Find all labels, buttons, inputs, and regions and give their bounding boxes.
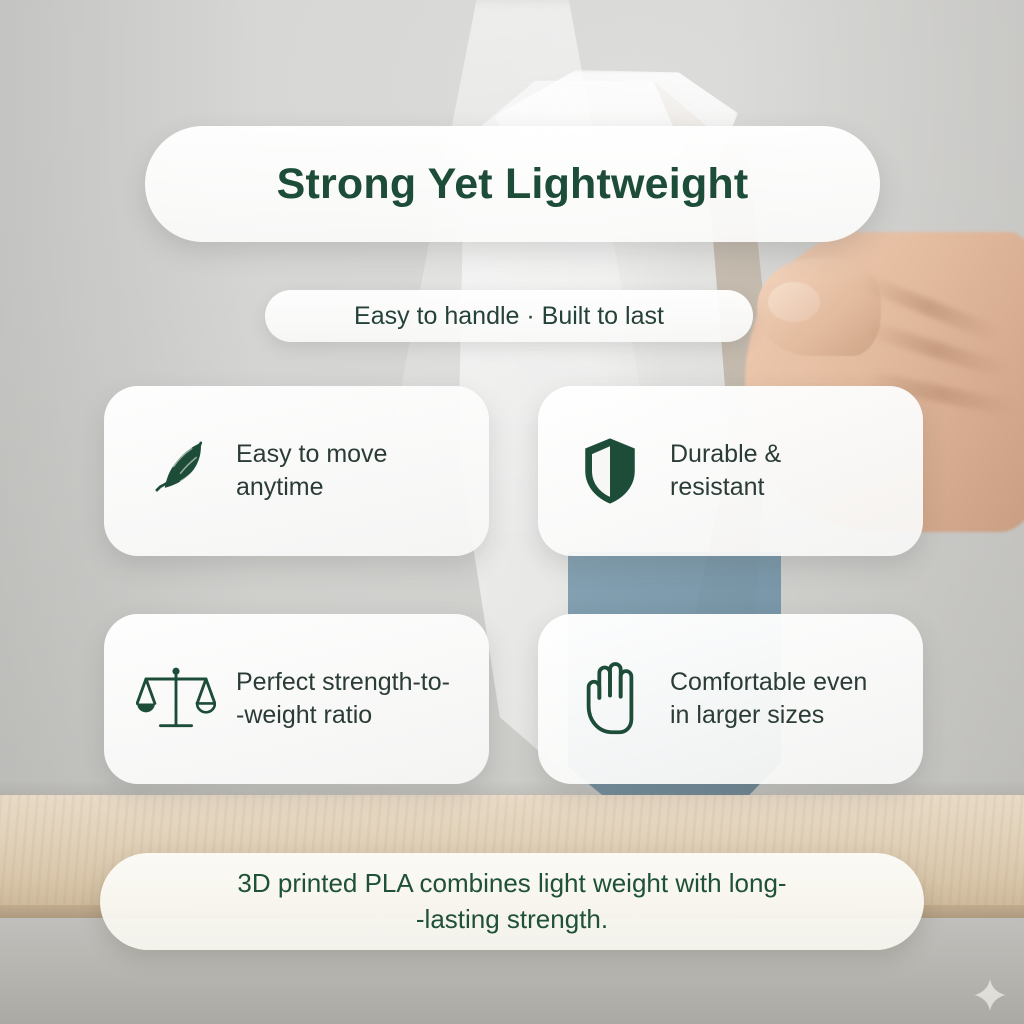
feature-card-label: Durable & resistant xyxy=(670,438,781,504)
footer-caption-line-1: 3D printed PLA combines light weight wit… xyxy=(237,866,786,901)
shield-icon xyxy=(570,431,650,511)
subtitle-pill: Easy to handle · Built to last xyxy=(265,290,753,342)
open-hand-icon xyxy=(570,659,650,739)
sparkle-icon xyxy=(972,977,1008,1013)
feature-card-easy-to-move[interactable]: Easy to move anytime xyxy=(104,386,489,556)
feature-card-label: Easy to move anytime xyxy=(236,438,387,504)
feature-card-label-line-1: Perfect strength-to- xyxy=(236,666,450,699)
feature-card-label-line-2: in larger sizes xyxy=(670,699,867,732)
feature-card-label-line-2: -weight ratio xyxy=(236,699,450,732)
thumbnail xyxy=(768,282,820,322)
footer-caption-line-2: -lasting strength. xyxy=(237,902,786,937)
feature-card-comfortable[interactable]: Comfortable even in larger sizes xyxy=(538,614,923,784)
feature-card-strength-to-weight[interactable]: Perfect strength-to- -weight ratio xyxy=(104,614,489,784)
feature-card-label-line-1: Easy to move xyxy=(236,438,387,471)
feature-card-label: Perfect strength-to- -weight ratio xyxy=(236,666,450,732)
feature-card-durable[interactable]: Durable & resistant xyxy=(538,386,923,556)
footer-caption: 3D printed PLA combines light weight wit… xyxy=(197,866,826,936)
feature-card-label: Comfortable even in larger sizes xyxy=(670,666,867,732)
footer-pill: 3D printed PLA combines light weight wit… xyxy=(100,853,924,950)
title-pill: Strong Yet Lightweight xyxy=(145,126,880,242)
page-subtitle: Easy to handle · Built to last xyxy=(354,302,664,331)
feature-card-label-line-2: resistant xyxy=(670,471,781,504)
feature-card-label-line-1: Durable & xyxy=(670,438,781,471)
feather-icon xyxy=(136,431,216,511)
feature-card-label-line-1: Comfortable even xyxy=(670,666,867,699)
infographic-stage: Strong Yet Lightweight Easy to handle · … xyxy=(0,0,1024,1024)
page-title: Strong Yet Lightweight xyxy=(277,160,749,209)
balance-scale-icon xyxy=(136,659,216,739)
feature-card-label-line-2: anytime xyxy=(236,471,387,504)
